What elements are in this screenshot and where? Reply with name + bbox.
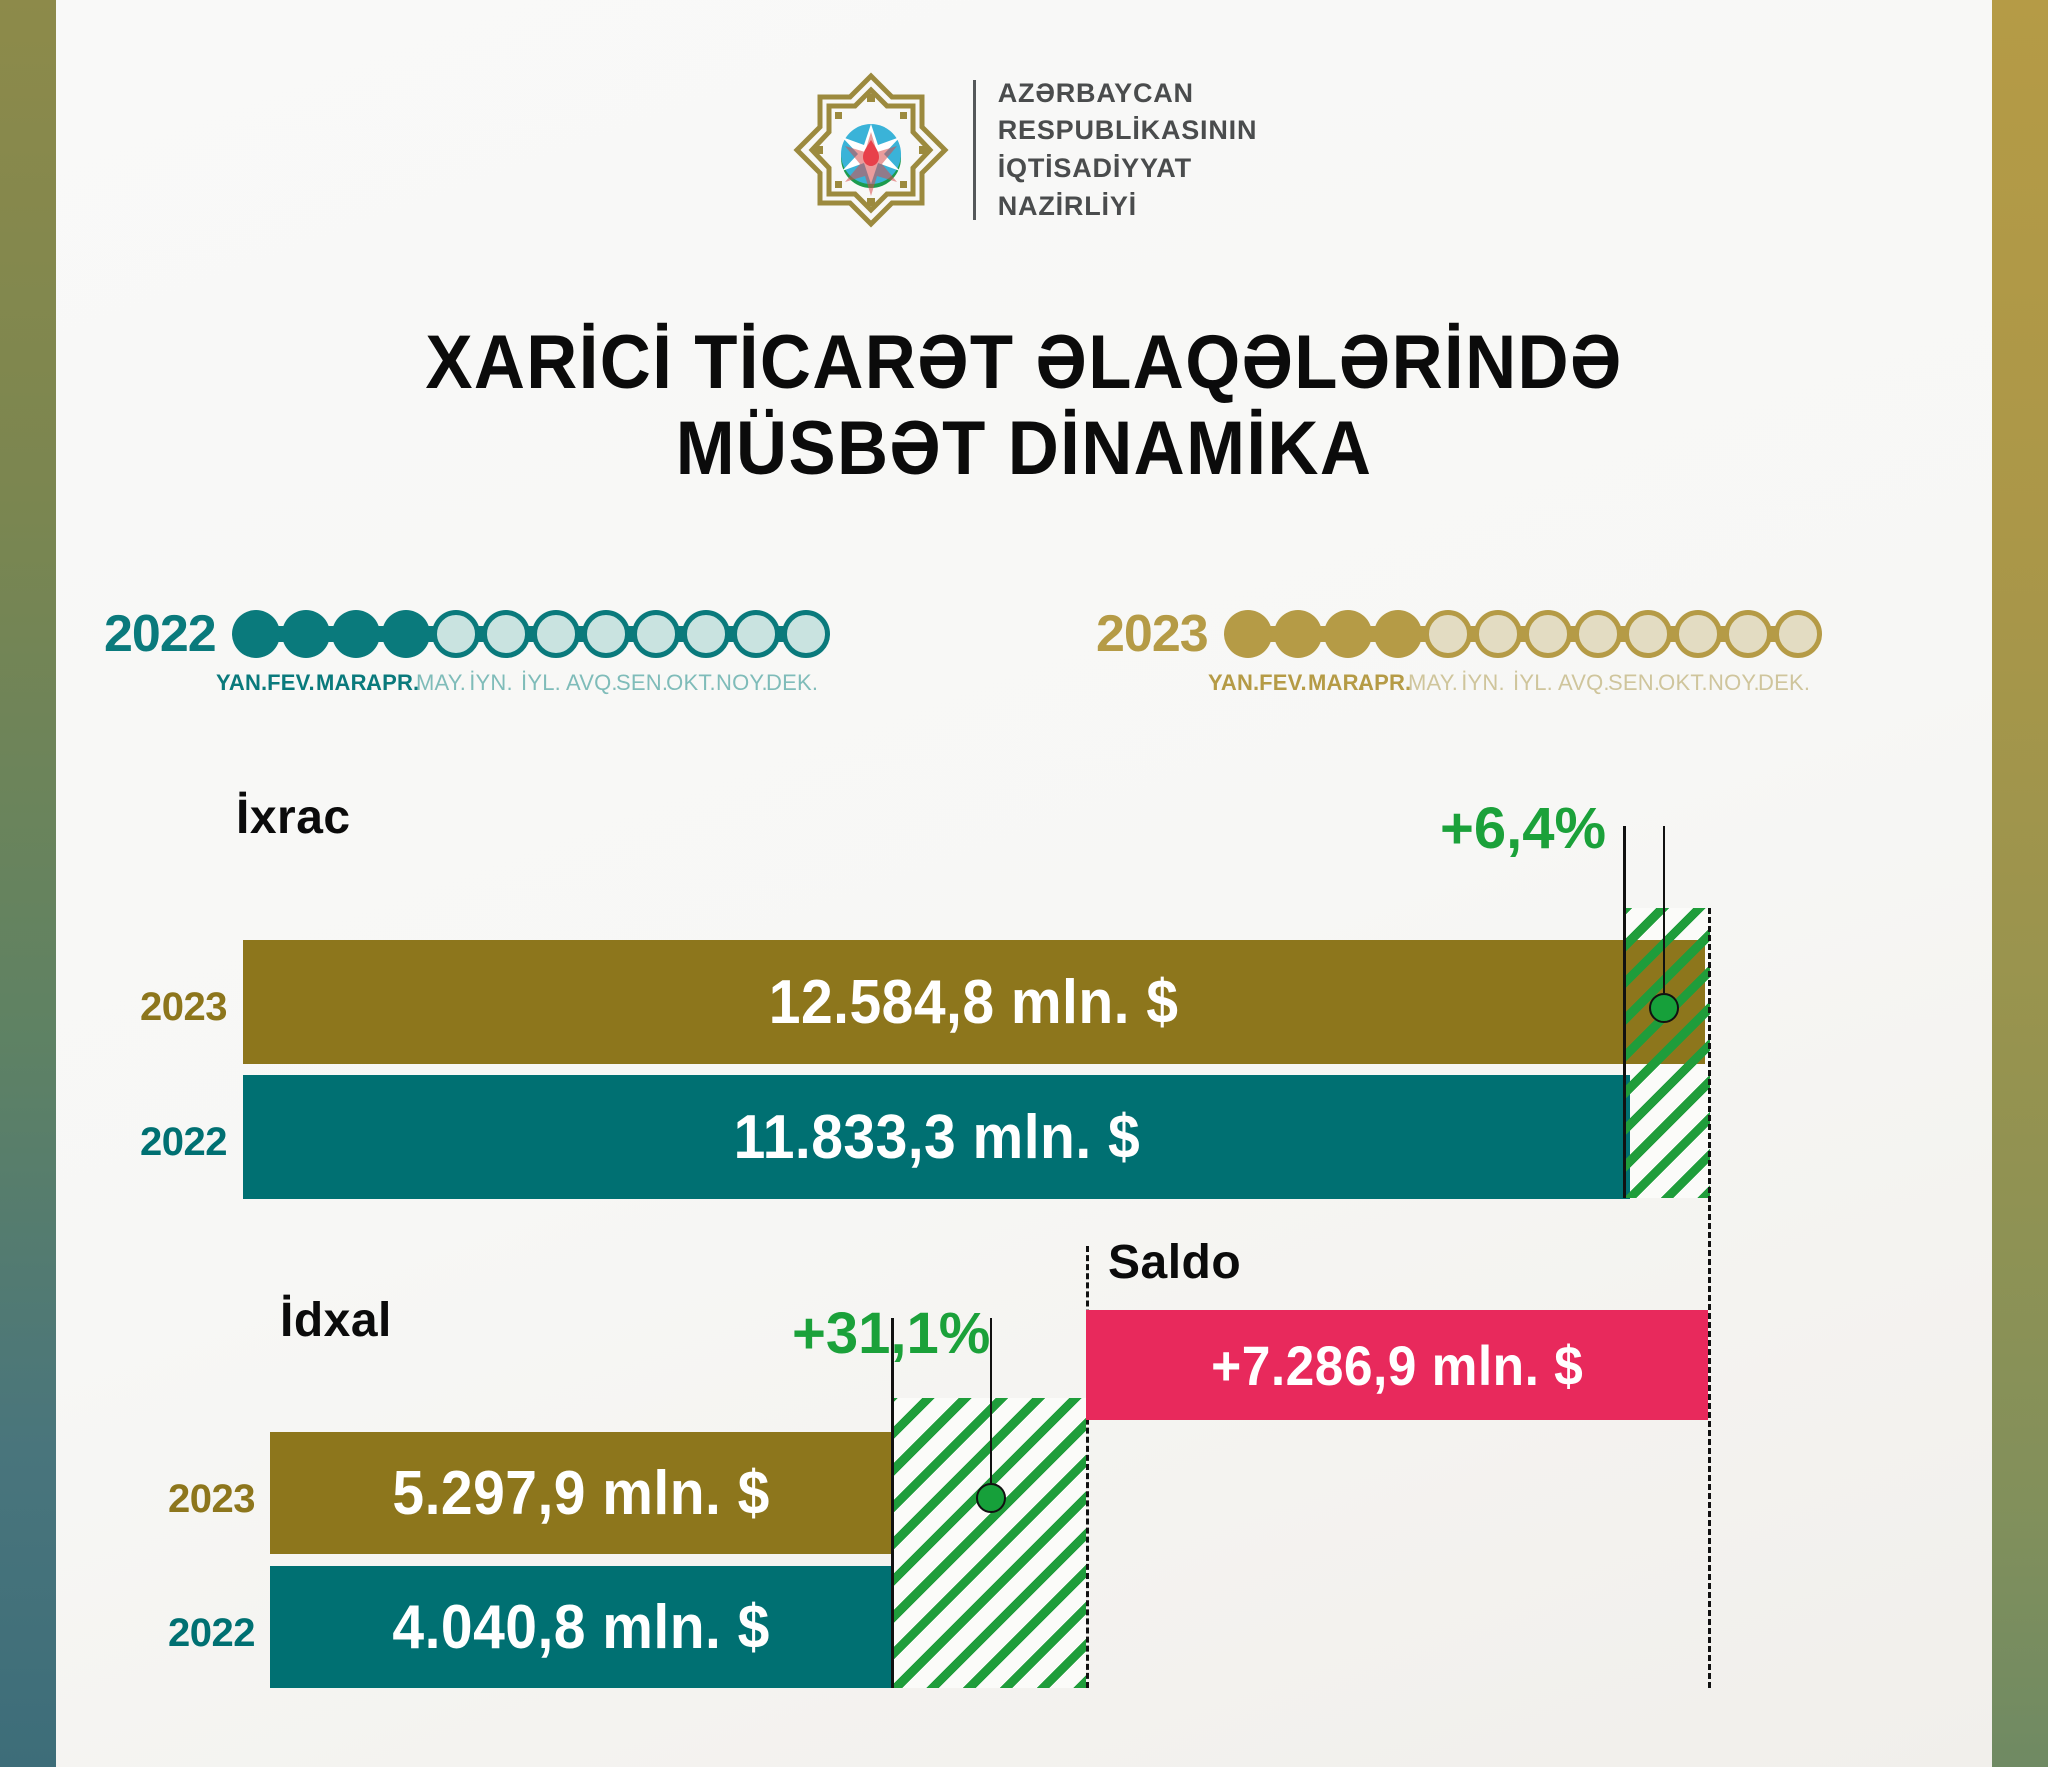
month-label-iyn: İYN. — [466, 670, 516, 696]
import-bar-2023: 5.297,9 mln. $ — [270, 1432, 892, 1554]
month-label-avq: AVQ. — [566, 670, 616, 696]
legend-dot-noy — [732, 610, 780, 658]
legend-2023-year: 2023 — [1096, 608, 1208, 660]
month2-label-mar: MAR. — [1308, 670, 1358, 696]
month2-label-avq: AVQ. — [1558, 670, 1608, 696]
ministry-logo: AZƏRBAYCAN RESPUBLİKASININ İQTİSADİYYAT … — [0, 70, 2048, 230]
month2-label-dek: DEK. — [1758, 670, 1808, 696]
legend2-dot-yan — [1224, 610, 1272, 658]
legend-dot-apr — [382, 610, 430, 658]
legend2-dot-sen — [1624, 610, 1672, 658]
legend2-dot-iyn — [1474, 610, 1522, 658]
month-label-dek: DEK. — [766, 670, 816, 696]
month2-label-okt: OKT. — [1658, 670, 1708, 696]
org-line-3: İQTİSADİYYAT — [998, 151, 1258, 187]
month-label-fev: FEV. — [266, 670, 316, 696]
legend2-dot-okt — [1674, 610, 1722, 658]
left-decorative-edge — [0, 0, 56, 1767]
legend-dot-iyl — [532, 610, 580, 658]
org-line-1: AZƏRBAYCAN — [998, 76, 1258, 112]
right-decorative-edge — [1992, 0, 2048, 1767]
infographic-page: AZƏRBAYCAN RESPUBLİKASININ İQTİSADİYYAT … — [0, 0, 2048, 1767]
legend-2023: 2023 YAN. FEV. MAR. APR. MAY. — [1096, 608, 1822, 696]
legend2-dot-apr — [1374, 610, 1422, 658]
export-growth-leader-line — [1663, 826, 1665, 993]
org-line-4: NAZİRLİYİ — [998, 189, 1258, 225]
page-title: XARİCİ TİCARƏT ƏLAQƏLƏRİNDƏ MÜSBƏT DİNAM… — [72, 320, 1977, 492]
legend2-dot-mar — [1324, 610, 1372, 658]
import-value-2022: 4.040,8 mln. $ — [392, 1592, 769, 1663]
month2-label-iyl: İYL. — [1508, 670, 1558, 696]
month2-label-may: MAY. — [1408, 670, 1458, 696]
legend-dot-okt — [682, 610, 730, 658]
legend-dot-sen — [632, 610, 680, 658]
month2-label-apr: APR. — [1358, 670, 1408, 696]
import-growth-leader-line — [990, 1318, 992, 1483]
import-growth-hatch — [892, 1398, 1086, 1688]
export-section-label: İxrac — [236, 790, 351, 845]
export-year-label-2022: 2022 — [140, 1120, 227, 1165]
month2-label-yan: YAN. — [1208, 670, 1258, 696]
legend2-dot-fev — [1274, 610, 1322, 658]
legend-dot-avq — [582, 610, 630, 658]
import-growth-percent: +31,1% — [792, 1300, 990, 1367]
month-label-okt: OKT. — [666, 670, 716, 696]
month-label-mar: MAR. — [316, 670, 366, 696]
export-growth-left-rule — [1623, 826, 1626, 1198]
legend-dot-iyn — [482, 610, 530, 658]
month-label-iyl: İYL. — [516, 670, 566, 696]
month-label-noy: NOY. — [716, 670, 766, 696]
legend2-dot-iyl — [1524, 610, 1572, 658]
export-growth-percent: +6,4% — [1440, 795, 1606, 862]
month2-label-sen: SEN. — [1608, 670, 1658, 696]
month-label-may: MAY. — [416, 670, 466, 696]
legend-dot-may — [432, 610, 480, 658]
import-growth-knob-icon — [976, 1483, 1006, 1513]
legend-dot-fev — [282, 610, 330, 658]
legend2-dot-dek — [1774, 610, 1822, 658]
export-year-label-2023: 2023 — [140, 985, 227, 1030]
org-line-2: RESPUBLİKASININ — [998, 113, 1258, 149]
balance-section-label: Saldo — [1108, 1235, 1241, 1290]
ministry-name: AZƏRBAYCAN RESPUBLİKASININ İQTİSADİYYAT … — [998, 76, 1258, 225]
month2-label-noy: NOY. — [1708, 670, 1758, 696]
export-bar-2023: 12.584,8 mln. $ — [243, 940, 1705, 1064]
legend-2022-track — [232, 613, 830, 655]
title-line-2: MÜSBƏT DİNAMİKA — [72, 406, 1977, 492]
legend-2023-track — [1224, 613, 1822, 655]
import-value-2023: 5.297,9 mln. $ — [392, 1458, 769, 1529]
legend-dot-yan — [232, 610, 280, 658]
legend2-dot-avq — [1574, 610, 1622, 658]
import-section-label: İdxal — [280, 1293, 392, 1348]
month-label-sen: SEN. — [616, 670, 666, 696]
legend-dot-mar — [332, 610, 380, 658]
export-value-2023: 12.584,8 mln. $ — [769, 967, 1179, 1038]
import-growth-left-rule — [891, 1318, 894, 1688]
import-year-label-2022: 2022 — [168, 1611, 255, 1656]
export-growth-knob-icon — [1649, 993, 1679, 1023]
import-year-label-2023: 2023 — [168, 1477, 255, 1522]
export-bar-2022: 11.833,3 mln. $ — [243, 1075, 1630, 1199]
legend-2022-year: 2022 — [104, 608, 216, 660]
export-growth-hatch — [1624, 908, 1710, 1198]
azerbaijan-state-emblem-icon — [791, 70, 951, 230]
month2-label-iyn: İYN. — [1458, 670, 1508, 696]
legend2-dot-noy — [1724, 610, 1772, 658]
balance-value: +7.286,9 mln. $ — [1211, 1333, 1583, 1398]
legend2-dot-may — [1424, 610, 1472, 658]
month-label-apr: APR. — [366, 670, 416, 696]
month-label-yan: YAN. — [216, 670, 266, 696]
logo-divider — [973, 80, 976, 220]
title-line-1: XARİCİ TİCARƏT ƏLAQƏLƏRİNDƏ — [72, 320, 1977, 406]
month2-label-fev: FEV. — [1258, 670, 1308, 696]
balance-bar: +7.286,9 mln. $ — [1086, 1310, 1708, 1420]
import-bar-2022: 4.040,8 mln. $ — [270, 1566, 892, 1688]
export-growth-right-dashed-rule — [1708, 908, 1711, 1688]
legend-2022: 2022 YAN. FEV. MAR. APR. MAY. — [104, 608, 830, 696]
legend-dot-dek — [782, 610, 830, 658]
export-value-2022: 11.833,3 mln. $ — [733, 1102, 1139, 1173]
